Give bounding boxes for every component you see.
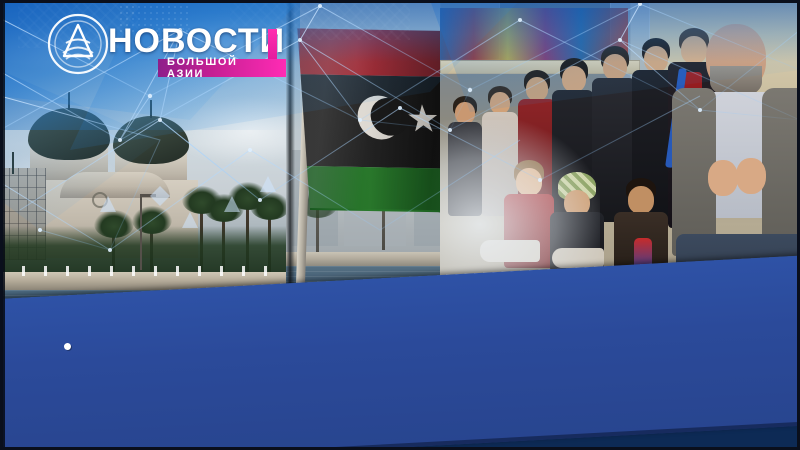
mosque-spire-left	[68, 92, 70, 110]
lamp-post	[140, 196, 142, 270]
channel-logo-block: НОВОСТИ БОЛЬШОЙ АЗИИ	[46, 10, 286, 80]
broadcast-frame: НОВОСТИ БОЛЬШОЙ АЗИИ Особенности ливийск…	[0, 0, 800, 450]
brand-subtitle-band: БОЛЬШОЙ АЗИИ	[158, 59, 286, 77]
mosque-rose-window	[92, 192, 108, 208]
man-hand	[736, 158, 766, 194]
mosque-spire-right	[150, 100, 152, 118]
lamp-arm	[140, 194, 156, 197]
palm-crown	[250, 192, 290, 220]
quay-bollards	[0, 266, 292, 276]
brand-subtitle: БОЛЬШОЙ АЗИИ	[167, 56, 277, 80]
novosti-emblem-icon	[46, 12, 110, 76]
panel-seam	[286, 0, 295, 320]
antenna	[12, 152, 14, 174]
man-hand	[708, 160, 738, 196]
